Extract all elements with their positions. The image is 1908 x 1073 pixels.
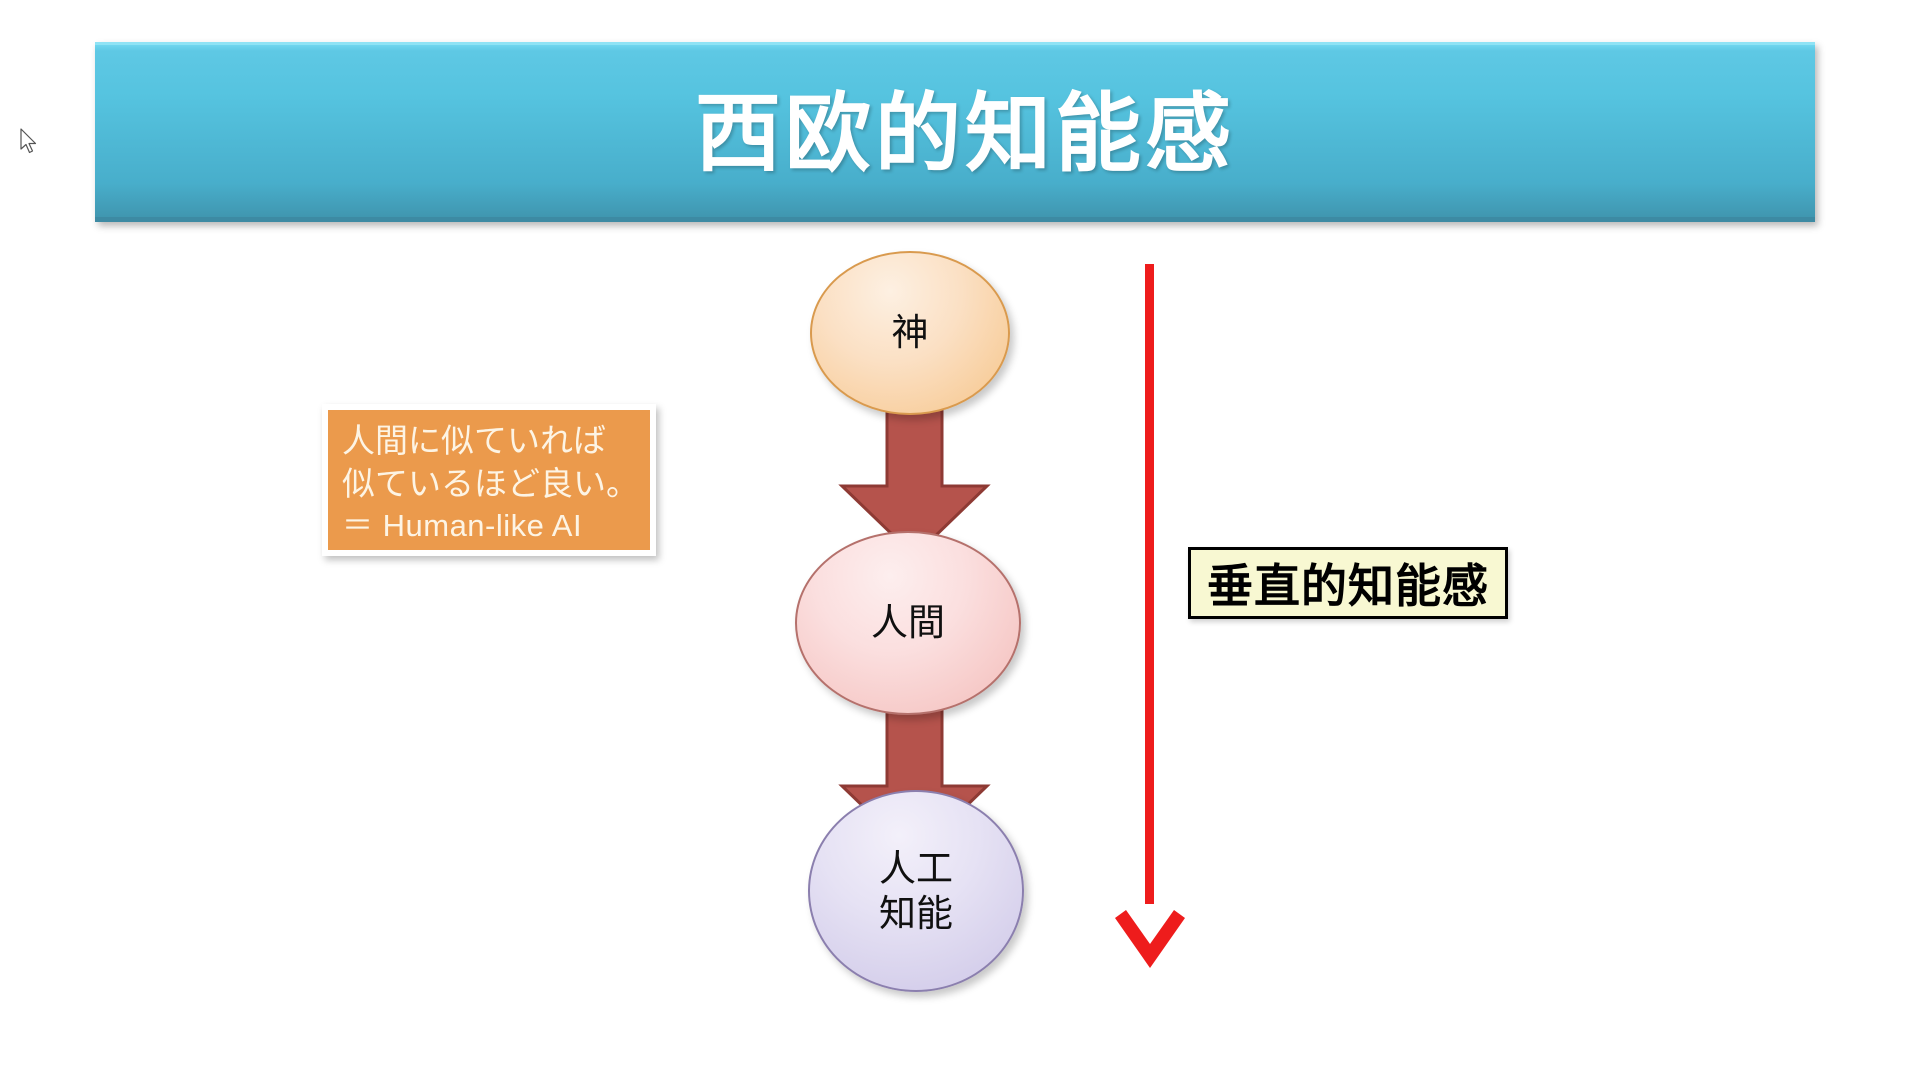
slide-canvas: 西欧的知能感 人間に似ていれば 似ているほど良い。 ＝ Human-like A… [0,0,1908,1073]
vertical-direction-arrow-shaft [1145,264,1154,904]
node-ai-label-line1: 人工 [879,846,953,891]
node-ai-label-line2: 知能 [879,891,953,936]
node-god-label: 神 [892,310,929,355]
callout-line-1: 人間に似ていれば [342,420,638,463]
node-human-label: 人間 [871,600,945,645]
vertical-intelligence-label: 垂直的知能感 [1188,547,1508,619]
human-like-ai-callout: 人間に似ていれば 似ているほど良い。 ＝ Human-like AI [322,404,656,556]
title-banner: 西欧的知能感 [95,42,1815,222]
callout-line-2: 似ているほど良い。 [342,463,638,506]
node-human: 人間 [795,531,1021,715]
vertical-intelligence-label-text: 垂直的知能感 [1207,550,1489,616]
node-god: 神 [810,251,1010,415]
node-artificial-intelligence: 人工 知能 [808,790,1024,992]
callout-line-3: ＝ Human-like AI [342,506,638,546]
mouse-pointer-icon [20,128,40,156]
down-arrow-icon-vertical-direction [1113,890,1187,970]
page-title: 西欧的知能感 [695,91,1235,177]
